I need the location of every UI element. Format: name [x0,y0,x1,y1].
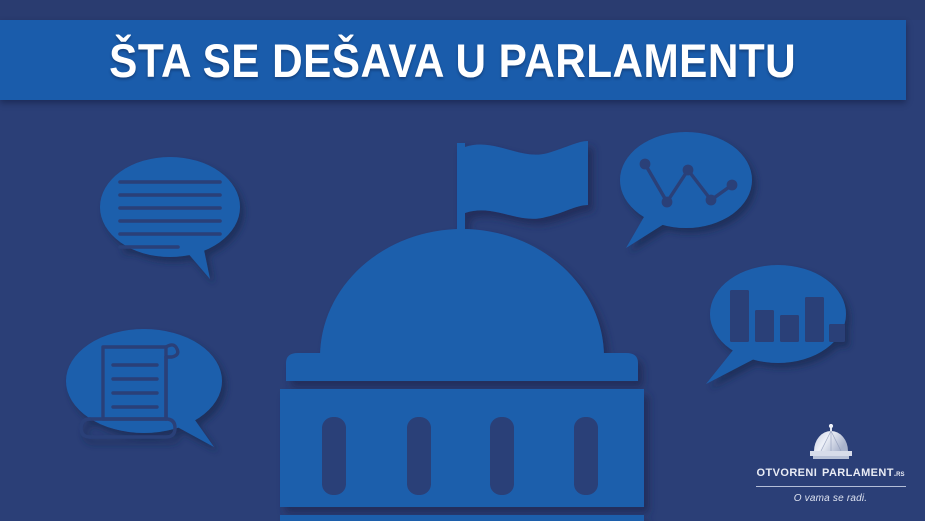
parliament-building [262,135,662,521]
header-banner: ŠTA SE DEŠAVA U PARLAMENTU [0,20,906,100]
line-chart-icon [645,164,732,202]
poster-canvas: ŠTA SE DEŠAVA U PARLAMENTU [0,0,925,521]
speech-bubble-line-chart [612,130,767,260]
dome-icon [803,424,859,460]
text-lines-icon [120,182,220,247]
logo-wordmark: Otvoreni Parlament.rs [748,463,913,481]
page-title: ŠTA SE DEŠAVA U PARLAMENTU [110,33,797,88]
logo-tagline: O vama se radi. [748,493,913,504]
line-chart-nodes-icon [640,159,738,208]
logo-divider [756,486,906,487]
speech-bubble-bar-chart [700,262,860,394]
top-strip [0,0,925,20]
speech-bubble-scroll-document [62,325,242,465]
logo-wordmark-main: Otvoreni Parlament [757,463,894,480]
speech-bubble-text-lines [98,155,258,285]
logo-dome-wrap [748,424,913,460]
logo-wordmark-suffix: .rs [894,469,905,478]
scroll-document-icon [81,345,178,437]
otvoreni-parlament-logo[interactable]: Otvoreni Parlament.rs O vama se radi. [748,424,913,508]
bar-chart-icon [730,290,845,342]
